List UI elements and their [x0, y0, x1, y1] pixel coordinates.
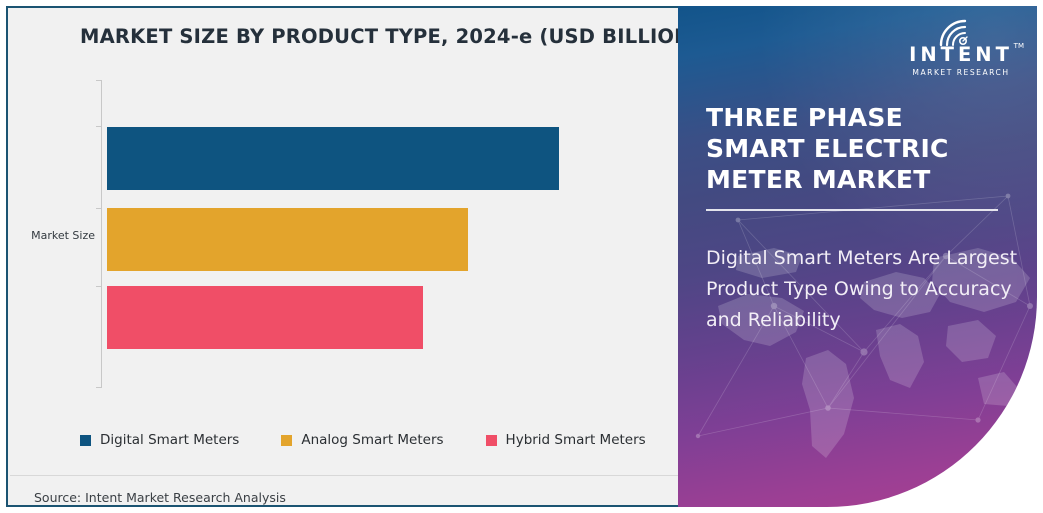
- brand-subtitle: Digital Smart Meters Are Largest Product…: [706, 243, 1022, 336]
- legend-item-hybrid-smart-meters[interactable]: Hybrid Smart Meters: [486, 432, 646, 448]
- headline-divider: [706, 209, 998, 211]
- legend-label: Analog Smart Meters: [301, 432, 443, 448]
- bar-hybrid-smart-meters[interactable]: [107, 286, 423, 349]
- bar-analog-smart-meters[interactable]: [107, 208, 468, 271]
- source-divider: [10, 475, 678, 476]
- legend-swatch-icon: [281, 435, 292, 446]
- y-axis-label: Market Size: [23, 229, 95, 242]
- chart-legend: Digital Smart Meters Analog Smart Meters…: [80, 432, 646, 448]
- legend-swatch-icon: [80, 435, 91, 446]
- logo-wordmark-text: INTENT: [909, 43, 1013, 66]
- axis-tick: [96, 387, 102, 388]
- brand-panel: INTENT TM MARKET RESEARCH THREE PHASE SM…: [678, 6, 1037, 507]
- legend-swatch-icon: [486, 435, 497, 446]
- chart-panel: MARKET SIZE BY PRODUCT TYPE, 2024-e (USD…: [6, 6, 678, 507]
- legend-item-analog-smart-meters[interactable]: Analog Smart Meters: [281, 432, 443, 448]
- logo-tagline: MARKET RESEARCH: [905, 68, 1017, 77]
- source-text: Source: Intent Market Research Analysis: [34, 490, 286, 505]
- bar-chart-plot-area: Market Size: [101, 74, 661, 394]
- brand-headline: THREE PHASE SMART ELECTRIC METER MARKET: [706, 102, 1006, 195]
- axis-tick: [96, 286, 102, 287]
- axis-tick: [96, 126, 102, 127]
- axis-tick: [96, 80, 102, 81]
- logo-wordmark: INTENT TM: [905, 45, 1017, 65]
- chart-title: MARKET SIZE BY PRODUCT TYPE, 2024-e (USD…: [80, 25, 660, 48]
- bar-digital-smart-meters[interactable]: [107, 127, 559, 190]
- legend-label: Hybrid Smart Meters: [506, 432, 646, 448]
- logo[interactable]: INTENT TM MARKET RESEARCH: [905, 18, 1017, 77]
- legend-label: Digital Smart Meters: [100, 432, 239, 448]
- trademark-symbol: TM: [1014, 43, 1024, 50]
- infographic-card: MARKET SIZE BY PRODUCT TYPE, 2024-e (USD…: [0, 0, 1043, 513]
- legend-item-digital-smart-meters[interactable]: Digital Smart Meters: [80, 432, 239, 448]
- axis-tick: [96, 208, 102, 209]
